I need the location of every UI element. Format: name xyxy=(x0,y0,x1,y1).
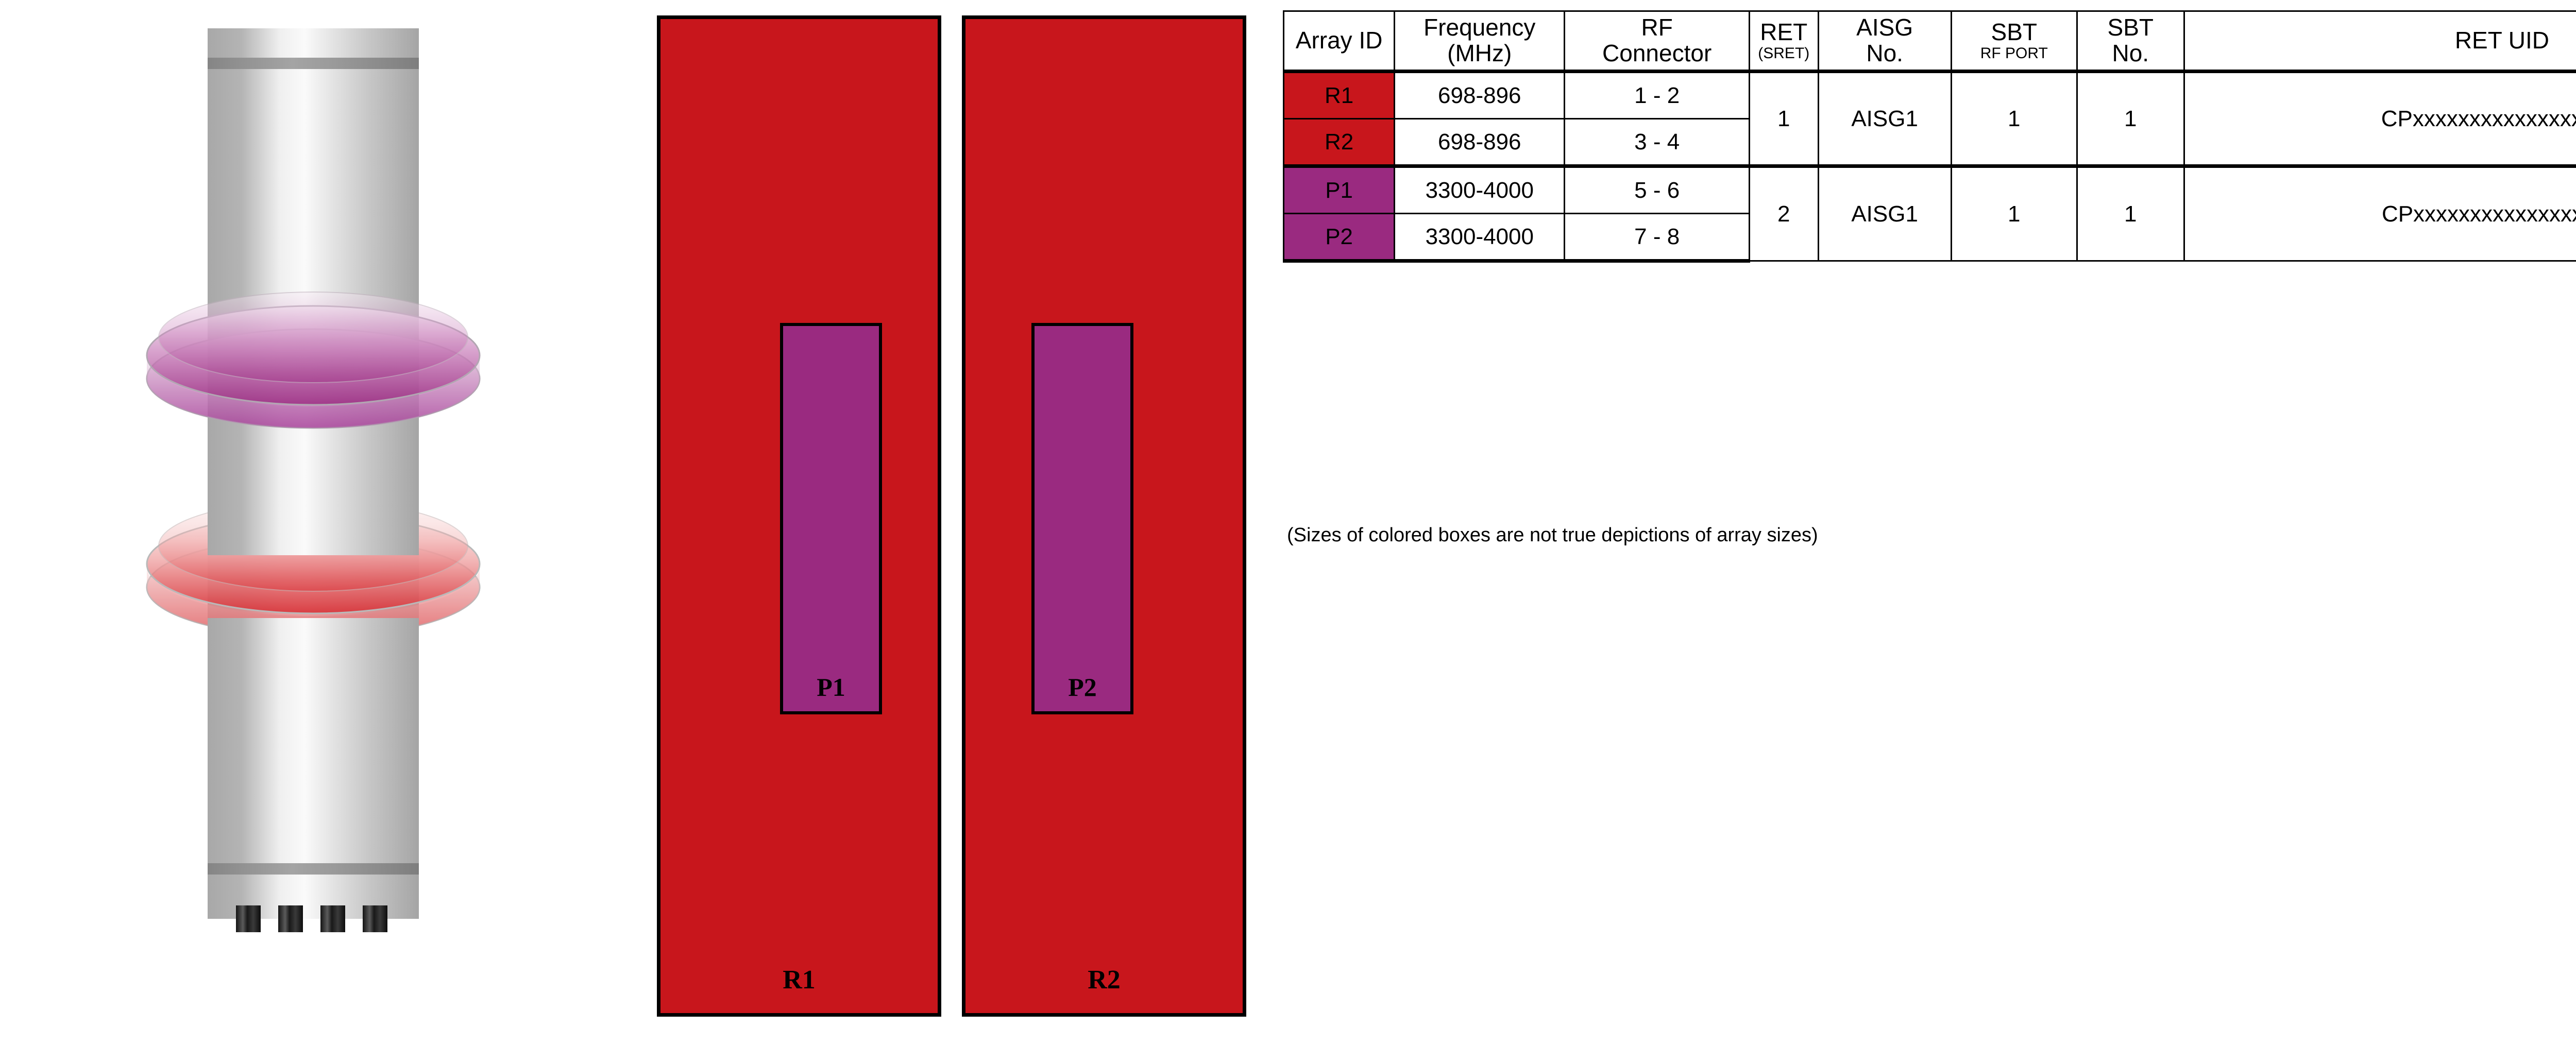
cell-rf-connector: 1 - 2 xyxy=(1565,72,1750,119)
cell-array-id: R2 xyxy=(1284,119,1395,166)
cell-array-id: P1 xyxy=(1284,166,1395,214)
cell-ret: 1 xyxy=(1750,72,1818,166)
th-sbt-no: SBT No. xyxy=(2077,11,2184,72)
th-rf-line1: RF xyxy=(1641,14,1673,41)
cell-frequency: 3300-4000 xyxy=(1395,214,1565,261)
cell-sbt-rf-port: 1 xyxy=(1951,166,2077,261)
th-ret-line1: RET xyxy=(1760,19,1807,45)
cell-ret-uid: CPxxxxxxxxxxxxxxxxR1 xyxy=(2184,72,2576,166)
table-row[interactable]: R1 698-896 1 - 2 1 AISG1 1 1 CPxxxxxxxxx… xyxy=(1284,72,2576,119)
cell-rf-connector: 3 - 4 xyxy=(1565,119,1750,166)
array-panel-r1[interactable]: P1 R1 xyxy=(657,15,941,1017)
cell-sbt-no: 1 xyxy=(2077,72,2184,166)
cell-array-id: P2 xyxy=(1284,214,1395,261)
th-aisg-line2: No. xyxy=(1866,40,1903,66)
th-aisg-no: AISG No. xyxy=(1818,11,1951,72)
antenna-mast-illustration xyxy=(0,0,618,1042)
cell-array-id: R1 xyxy=(1284,72,1395,119)
sub-array-p1[interactable]: P1 xyxy=(780,323,882,714)
th-sbt-port-line1: SBT xyxy=(1991,19,2037,45)
array-spec-table-wrap: Array ID Frequency (MHz) RF Connector RE… xyxy=(1283,10,2576,263)
th-ret-uid: RET UID xyxy=(2184,11,2576,72)
cell-frequency: 3300-4000 xyxy=(1395,166,1565,214)
th-sbt-rf-port: SBT RF PORT xyxy=(1951,11,2077,72)
table-note: (Sizes of colored boxes are not true dep… xyxy=(1287,524,1818,546)
cell-frequency: 698-896 xyxy=(1395,119,1565,166)
cell-aisg-no: AISG1 xyxy=(1818,72,1951,166)
cell-sbt-no: 1 xyxy=(2077,166,2184,261)
th-aisg-line1: AISG xyxy=(1856,14,1913,41)
th-rf-line2: Connector xyxy=(1602,40,1711,66)
cell-rf-connector: 5 - 6 xyxy=(1565,166,1750,214)
table-row[interactable]: P1 3300-4000 5 - 6 2 AISG1 1 1 CPxxxxxxx… xyxy=(1284,166,2576,214)
th-sbt-no-line2: No. xyxy=(2112,40,2149,66)
cell-ret: 2 xyxy=(1750,166,1818,261)
th-rf-connector: RF Connector xyxy=(1565,11,1750,72)
array-panel-r1-label: R1 xyxy=(660,967,938,993)
cell-frequency: 698-896 xyxy=(1395,72,1565,119)
th-sbt-no-line1: SBT xyxy=(2108,14,2154,41)
upper-beam-purple xyxy=(147,292,480,428)
array-panel-r2-label: R2 xyxy=(965,967,1243,993)
table-header-row: Array ID Frequency (MHz) RF Connector RE… xyxy=(1284,11,2576,72)
th-ret-line2: (SRET) xyxy=(1750,45,1817,62)
mast-cylinder-front xyxy=(208,432,419,905)
array-spec-table: Array ID Frequency (MHz) RF Connector RE… xyxy=(1283,10,2576,263)
cell-ret-uid: CPxxxxxxxxxxxxxxxxP1 xyxy=(2184,166,2576,261)
array-panel-r2[interactable]: P2 R2 xyxy=(962,15,1246,1017)
th-array-id: Array ID xyxy=(1284,11,1395,72)
table-body: R1 698-896 1 - 2 1 AISG1 1 1 CPxxxxxxxxx… xyxy=(1284,72,2576,261)
antenna-mast-svg xyxy=(0,0,618,1042)
th-frequency: Frequency (MHz) xyxy=(1395,11,1565,72)
cell-aisg-no: AISG1 xyxy=(1818,166,1951,261)
sub-array-p1-label: P1 xyxy=(783,674,879,700)
sub-array-p2-label: P2 xyxy=(1035,674,1130,700)
sub-array-p2[interactable]: P2 xyxy=(1031,323,1133,714)
th-frequency-line1: Frequency xyxy=(1423,14,1535,41)
cell-sbt-rf-port: 1 xyxy=(1951,72,2077,166)
th-ret: RET (SRET) xyxy=(1750,11,1818,72)
array-panel-group: P1 R1 P2 R2 xyxy=(657,15,1255,1025)
th-sbt-port-line2: RF PORT xyxy=(1952,45,2076,62)
th-frequency-line2: (MHz) xyxy=(1447,40,1512,66)
cell-rf-connector: 7 - 8 xyxy=(1565,214,1750,261)
table-header: Array ID Frequency (MHz) RF Connector RE… xyxy=(1284,11,2576,72)
